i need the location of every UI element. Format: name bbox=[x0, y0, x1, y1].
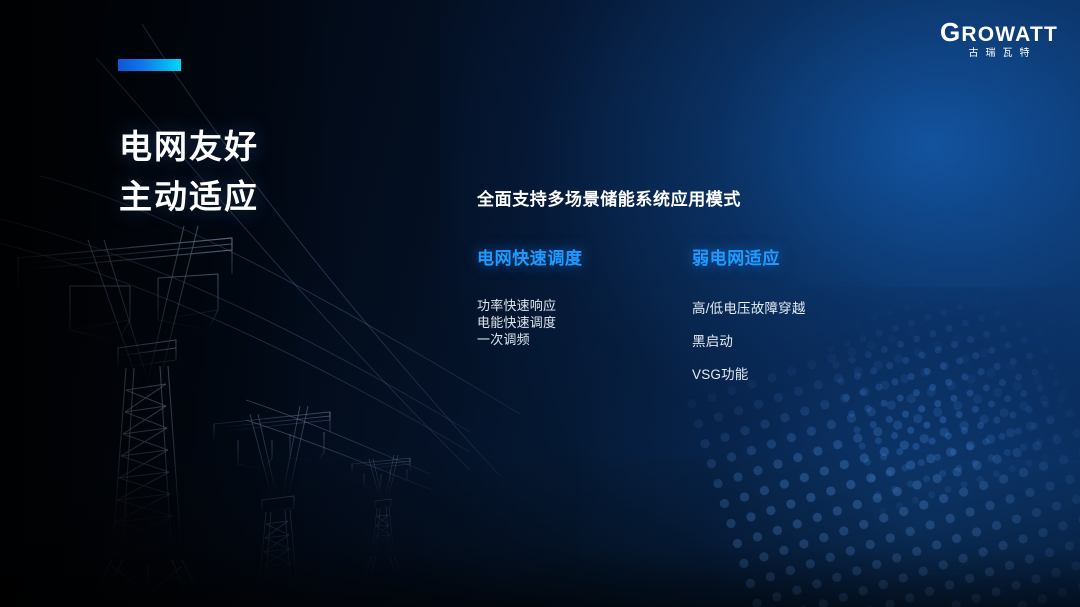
slide: 电网友好 主动适应 全面支持多场景储能系统应用模式 电网快速调度 功率快速响应 … bbox=[0, 0, 1080, 607]
accent-bar bbox=[118, 59, 181, 71]
list-item: 黑启动 bbox=[692, 333, 892, 351]
logo-word-rest: ROWATT bbox=[961, 23, 1058, 46]
title-line-2: 主动适应 bbox=[119, 172, 259, 222]
growatt-logo: GROWATT 古瑞瓦特 bbox=[940, 21, 1058, 61]
column-heading: 电网快速调度 bbox=[477, 244, 563, 269]
feature-column-weak-grid: 弱电网适应 高/低电压故障穿越 黑启动 VSG功能 bbox=[692, 244, 892, 399]
page-title: 电网友好 主动适应 bbox=[119, 122, 259, 222]
logo-chinese-name: 古瑞瓦特 bbox=[940, 47, 1058, 61]
list-item: 一次调频 bbox=[477, 331, 563, 348]
feature-list: 功率快速响应 电能快速调度 一次调频 bbox=[477, 297, 563, 348]
list-item: 功率快速响应 bbox=[477, 297, 563, 314]
list-item: 电能快速调度 bbox=[477, 314, 563, 331]
list-item: VSG功能 bbox=[692, 366, 892, 384]
slide-content: 电网友好 主动适应 全面支持多场景储能系统应用模式 电网快速调度 功率快速响应 … bbox=[0, 0, 1080, 607]
logo-wordmark: GROWATT bbox=[940, 21, 1058, 46]
column-heading: 弱电网适应 bbox=[692, 244, 892, 269]
logo-initial: G bbox=[940, 17, 961, 47]
subtitle: 全面支持多场景储能系统应用模式 bbox=[477, 185, 741, 210]
feature-column-grid-dispatch: 电网快速调度 功率快速响应 电能快速调度 一次调频 bbox=[477, 244, 563, 348]
feature-list: 高/低电压故障穿越 黑启动 VSG功能 bbox=[692, 300, 892, 384]
list-item: 高/低电压故障穿越 bbox=[692, 300, 892, 318]
title-line-1: 电网友好 bbox=[119, 122, 259, 172]
